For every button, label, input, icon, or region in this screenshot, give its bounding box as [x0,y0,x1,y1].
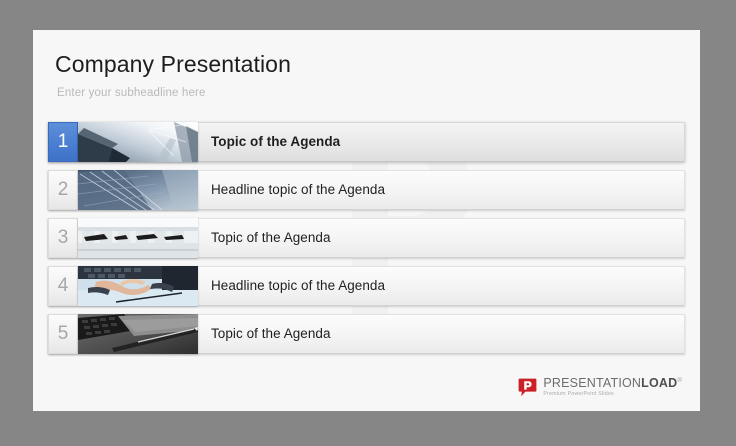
agenda-list: 1 [48,122,685,362]
logo-word-bold: LOAD [641,376,677,390]
agenda-row-label[interactable]: Topic of the Agenda [211,314,331,354]
presentationload-logo[interactable]: PRESENTATIONLOAD® Premium PowerPoint Sli… [518,375,682,399]
agenda-row-2[interactable]: 2 [48,170,685,210]
speech-bubble-p-icon [518,378,537,397]
agenda-row-4[interactable]: 4 [48,266,685,306]
presentation-slide: Company Presentation Enter your subheadl… [33,30,700,411]
agenda-row-label[interactable]: Topic of the Agenda [211,122,340,162]
agenda-row-3[interactable]: 3 [48,218,685,258]
logo-text: PRESENTATIONLOAD® Premium PowerPoint Sli… [543,377,682,398]
screenshot-canvas: Company Presentation Enter your subheadl… [0,0,736,446]
agenda-row-1[interactable]: 1 [48,122,685,162]
logo-word-light: PRESENTATION [543,376,641,390]
conference-room-interior-thumbnail [78,218,198,258]
agenda-row-label[interactable]: Headline topic of the Agenda [211,170,385,210]
logo-trademark: ® [677,377,682,383]
agenda-row-5[interactable]: 5 [48,314,685,354]
agenda-row-number-badge: 3 [48,218,78,258]
skyscraper-upward-view-thumbnail [78,122,198,162]
page-title: Company Presentation [55,52,678,77]
agenda-row-label[interactable]: Headline topic of the Agenda [211,266,385,306]
agenda-row-number-badge: 5 [48,314,78,354]
slide-header: Company Presentation Enter your subheadl… [55,52,678,99]
agenda-row-label[interactable]: Topic of the Agenda [211,218,331,258]
agenda-row-number-badge: 2 [48,170,78,210]
logo-tagline: Premium PowerPoint Slides [543,392,682,397]
glass-office-tower-thumbnail [78,170,198,210]
business-handshake-thumbnail [78,266,198,306]
laptop-and-pen-thumbnail [78,314,198,354]
slide-subtitle[interactable]: Enter your subheadline here [57,87,678,99]
logo-wordmark: PRESENTATIONLOAD® [543,377,682,390]
agenda-row-number-badge: 1 [48,122,78,162]
agenda-row-number-badge: 4 [48,266,78,306]
